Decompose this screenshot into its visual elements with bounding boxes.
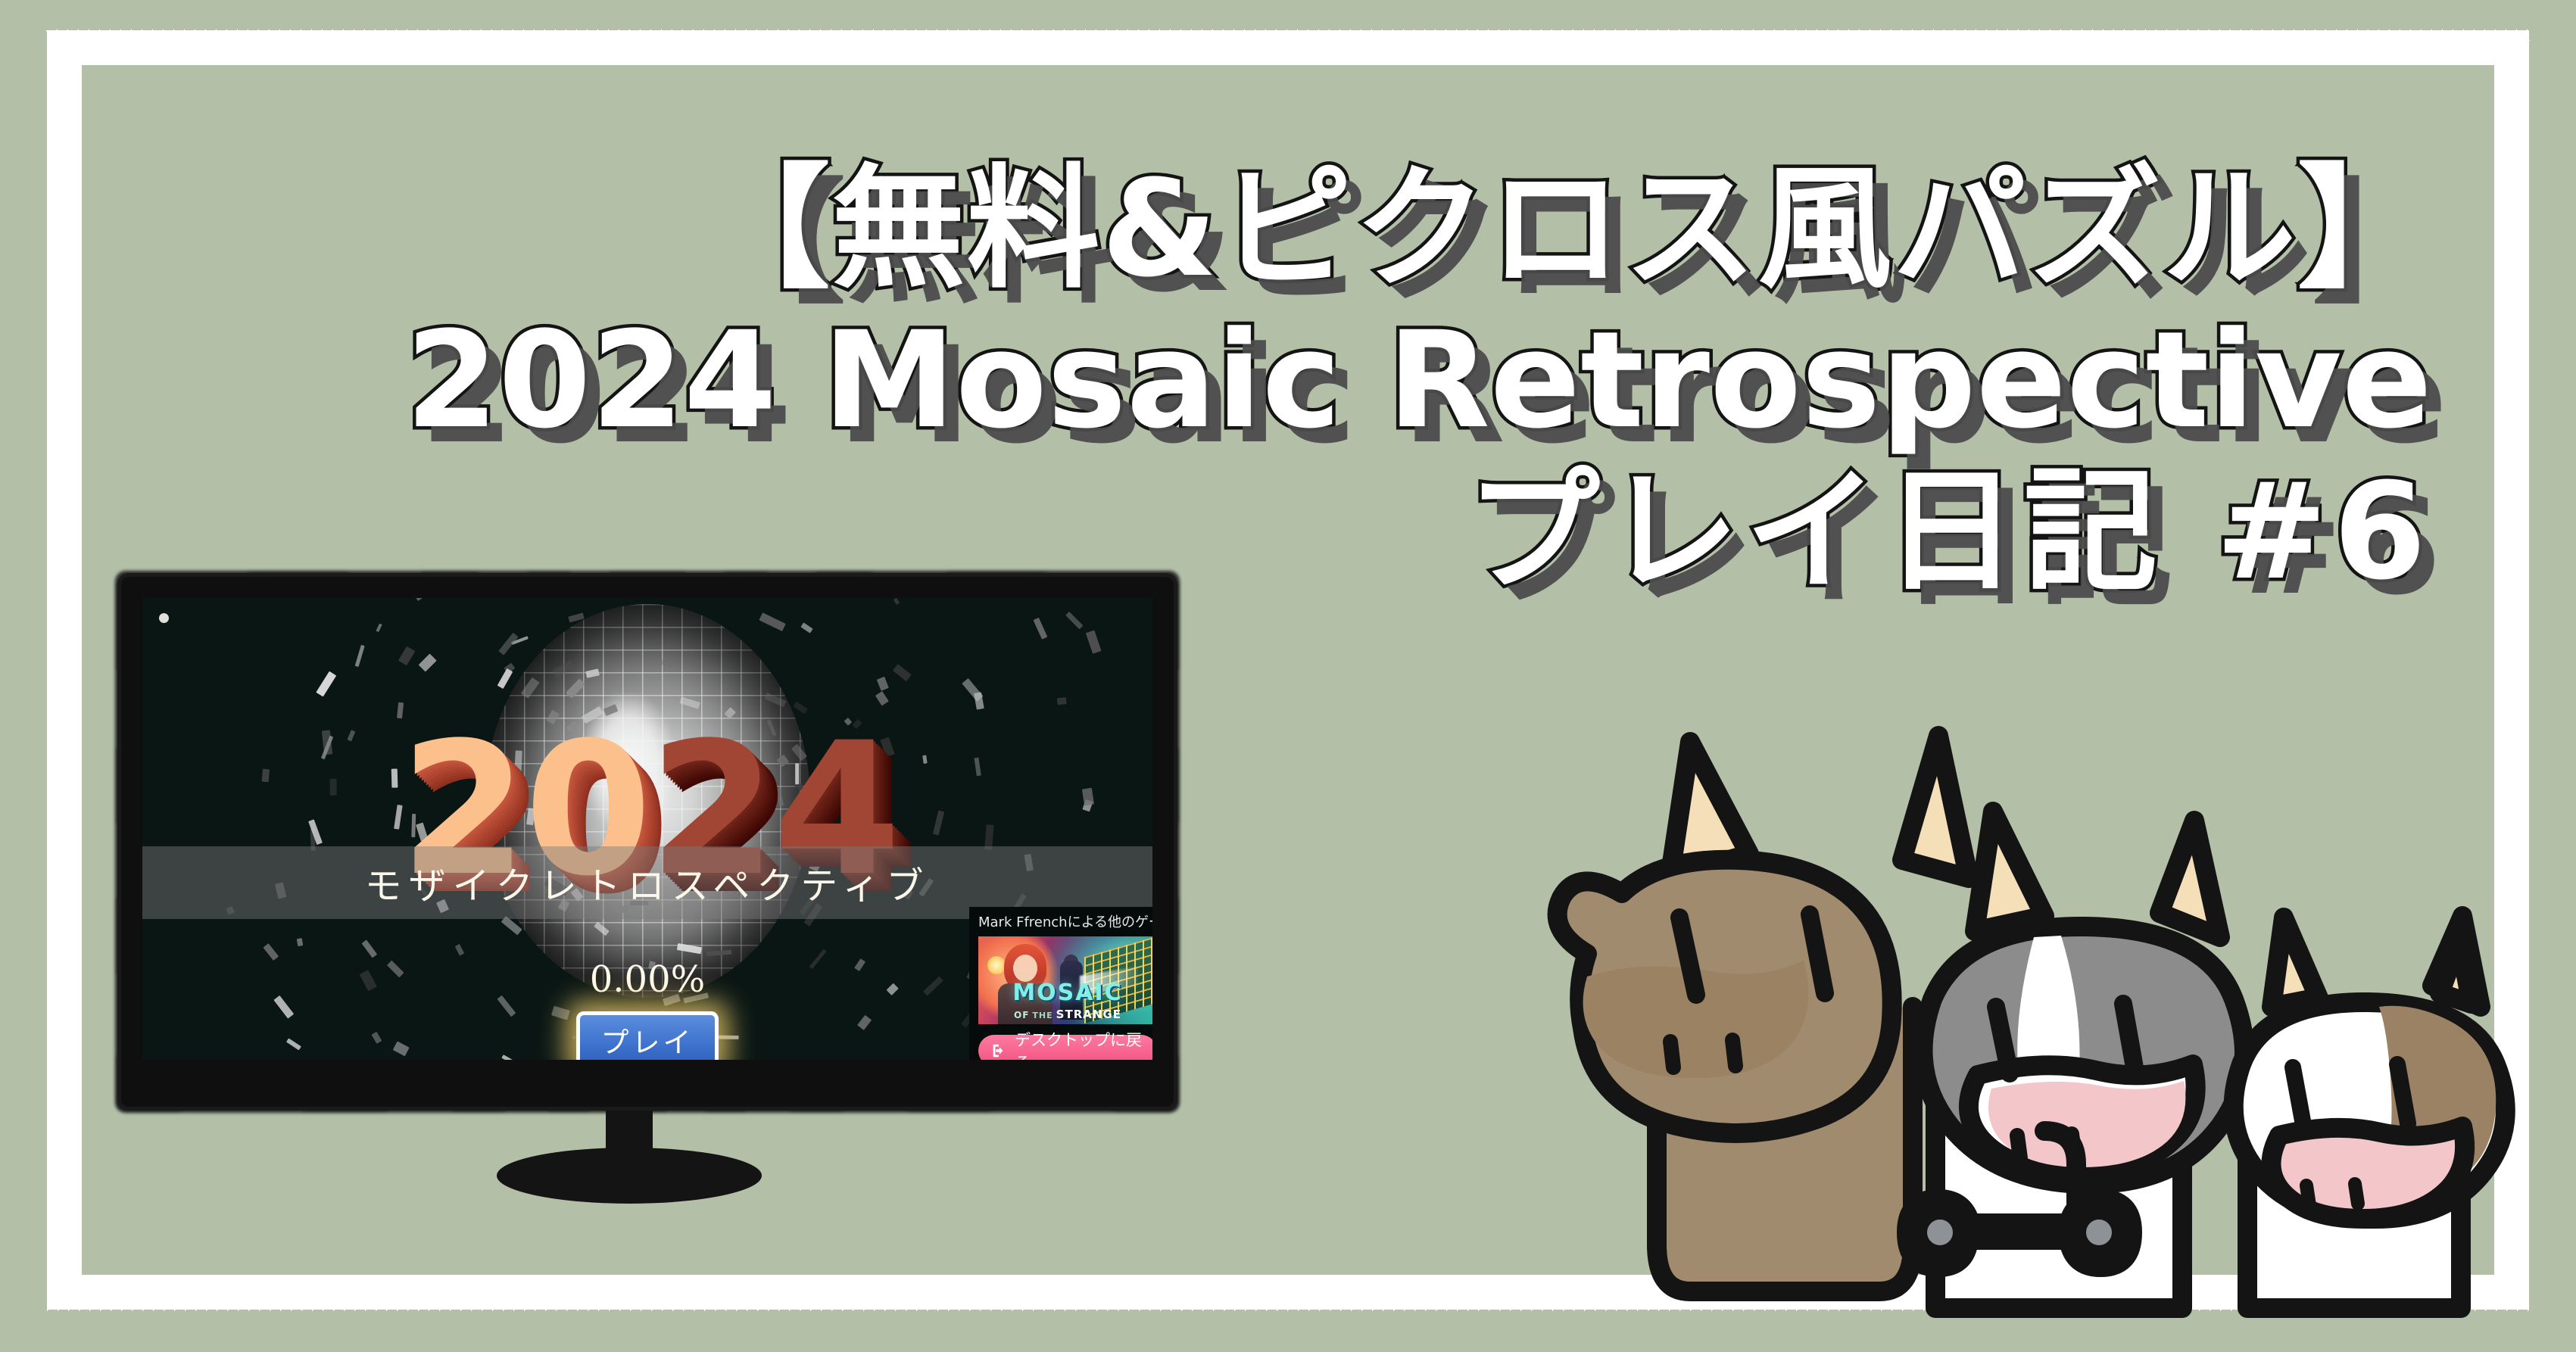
card-woman-face	[1013, 955, 1037, 982]
confetti-particle	[360, 970, 377, 992]
card-subtitle-the: THE	[1032, 1011, 1053, 1020]
confetti-particle	[551, 1006, 570, 1020]
monitor-base	[497, 1148, 762, 1204]
confetti-particle	[886, 983, 898, 995]
screen-corner-highlight	[159, 613, 169, 623]
other-games-panel: Mark Ffrenchによる他のゲーム MOSAIC	[969, 907, 1152, 1060]
confetti-particle	[286, 1038, 301, 1050]
confetti-particle	[855, 959, 866, 972]
confetti-particle	[317, 671, 337, 696]
confetti-particle	[501, 1054, 518, 1060]
confetti-particle	[878, 677, 890, 691]
game-subtitle: モザイクレトロスペクティブ	[365, 856, 931, 910]
confetti-particle	[393, 1042, 410, 1057]
confetti-particle	[1086, 631, 1101, 654]
back-to-desktop-button[interactable]: デスクトップに戻る	[978, 1035, 1152, 1060]
confetti-particle	[387, 961, 404, 978]
frame-edge-top	[47, 26, 2529, 34]
confetti-particle	[321, 736, 333, 760]
desktop-monitor: 2 0 2 4 モザイクレトロスペクティブ 0.00% プレイ Mark Ffr…	[121, 577, 1174, 1190]
confetti-particle	[975, 758, 981, 777]
confetti-particle	[924, 977, 943, 996]
confetti-particle	[398, 646, 415, 665]
thumbnail-canvas: 【無料&ピクロス風パズル】 2024 Mosaic Retrospective …	[0, 0, 2576, 1352]
confetti-particle	[893, 665, 911, 681]
confetti-particle	[857, 1015, 872, 1030]
confetti-particle	[454, 944, 464, 956]
title-line-2: 2024 Mosaic Retrospective	[0, 314, 2432, 447]
confetti-particle	[330, 779, 337, 796]
page-title: 【無料&ピクロス風パズル】 2024 Mosaic Retrospective …	[0, 0, 2576, 599]
confetti-particle	[391, 769, 398, 788]
confetti-particle	[322, 730, 333, 755]
monitor-bezel: 2 0 2 4 モザイクレトロスペクティブ 0.00% プレイ Mark Ffr…	[121, 577, 1174, 1107]
confetti-particle	[419, 653, 437, 671]
confetti-particle	[1057, 697, 1067, 705]
progress-percent: 0.00%	[590, 958, 705, 1001]
confetti-particle	[371, 1032, 382, 1044]
game-card-mosaic-of-the-strange[interactable]: MOSAIC OFTHESTRANGE	[978, 936, 1152, 1024]
cow-small	[2234, 916, 2506, 1308]
card-subtitle-of: OF	[1014, 1010, 1029, 1020]
confetti-particle	[355, 646, 365, 668]
confetti-particle	[297, 938, 304, 946]
confetti-particle	[376, 623, 383, 632]
confetti-particle	[273, 995, 294, 1019]
confetti-particle	[361, 940, 376, 958]
confetti-particle	[974, 693, 984, 710]
game-screen: 2 0 2 4 モザイクレトロスペクティブ 0.00% プレイ Mark Ffr…	[142, 598, 1152, 1060]
confetti-particle	[347, 731, 355, 742]
confetti-particle	[719, 1036, 739, 1039]
confetti-particle	[264, 943, 279, 961]
confetti-particle	[962, 678, 983, 702]
confetti-particle	[497, 995, 516, 1017]
three-cows-illustration	[1514, 651, 2529, 1332]
frame-edge-left	[43, 30, 51, 1310]
play-button[interactable]: プレイ	[576, 1011, 719, 1060]
card-subtitle: OFTHESTRANGE	[978, 1008, 1152, 1021]
confetti-particle	[933, 810, 945, 836]
confetti-particle	[1065, 612, 1083, 629]
confetti-particle	[893, 598, 900, 605]
title-line-1: 【無料&ピクロス風パズル】	[0, 163, 2432, 296]
confetti-particle	[1034, 618, 1048, 639]
confetti-particle	[416, 598, 426, 601]
confetti-particle	[262, 769, 270, 783]
card-subtitle-strange: STRANGE	[1056, 1008, 1121, 1021]
confetti-particle	[308, 819, 323, 845]
exit-icon	[990, 1042, 1007, 1059]
confetti-particle	[809, 949, 826, 969]
back-to-desktop-label: デスクトップに戻る	[1015, 1028, 1152, 1060]
card-title-mosaic: MOSAIC	[978, 980, 1152, 1006]
card-orb	[987, 956, 1006, 974]
confetti-particle	[1082, 799, 1093, 812]
confetti-particle	[1082, 788, 1094, 806]
other-games-label: Mark Ffrenchによる他のゲーム	[969, 911, 1152, 931]
confetti-particle	[922, 755, 927, 765]
